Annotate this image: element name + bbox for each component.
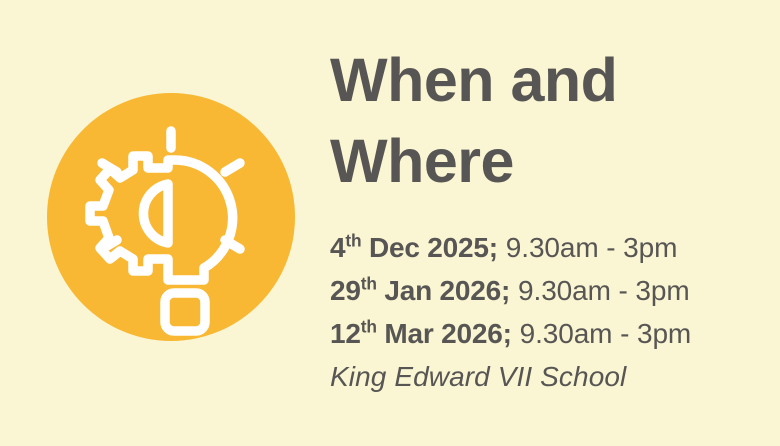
schedule-separator: ; [503,318,512,349]
schedule-time: 9.30am - 3pm [498,232,677,263]
schedule-separator: ; [501,275,510,306]
list-item: 12th Mar 2026; 9.30am - 3pm [330,312,760,355]
icon-badge [47,93,295,341]
schedule-month-year: Jan 2026 [377,275,501,306]
lightbulb-gear-icon [47,93,295,341]
schedule-date: 4th Dec 2025 [330,232,489,263]
schedule-date: 29th Jan 2026 [330,275,501,306]
schedule-list: 4th Dec 2025; 9.30am - 3pm 29th Jan 2026… [330,226,760,355]
page-title: When and Where [330,40,760,202]
schedule-day: 29 [330,275,361,306]
schedule-ordinal: th [361,274,377,294]
slide-canvas: When and Where 4th Dec 2025; 9.30am - 3p… [0,0,780,446]
schedule-date: 12th Mar 2026 [330,318,503,349]
schedule-day: 4 [330,232,345,263]
schedule-day: 12 [330,318,361,349]
schedule-month-year: Dec 2025 [361,232,488,263]
schedule-separator: ; [489,232,498,263]
venue-label: King Edward VII School [330,355,760,398]
schedule-time: 9.30am - 3pm [512,318,691,349]
schedule-ordinal: th [345,231,361,251]
schedule-time: 9.30am - 3pm [510,275,689,306]
schedule-ordinal: th [361,317,377,337]
list-item: 29th Jan 2026; 9.30am - 3pm [330,269,760,312]
schedule-month-year: Mar 2026 [377,318,503,349]
text-column: When and Where 4th Dec 2025; 9.30am - 3p… [330,40,760,398]
list-item: 4th Dec 2025; 9.30am - 3pm [330,226,760,269]
